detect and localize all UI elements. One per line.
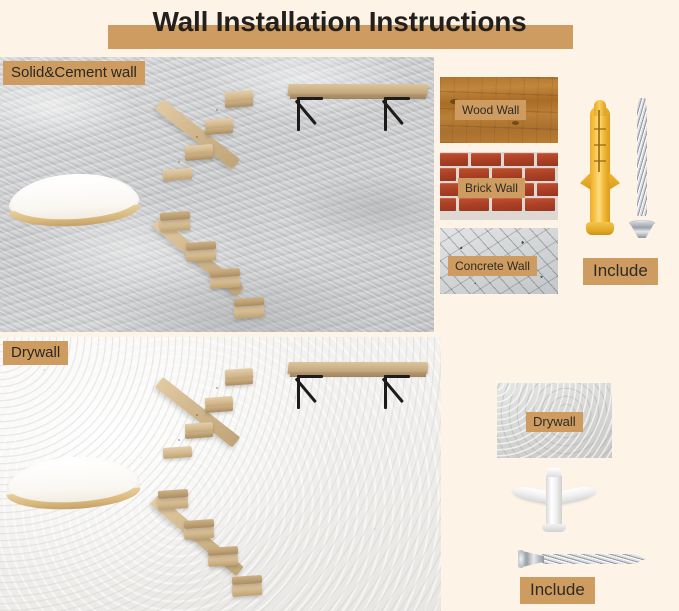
silver-screw-vertical-icon bbox=[628, 96, 656, 238]
curved-cat-hammock bbox=[7, 171, 142, 230]
swatch-label-wood-wall: Wood Wall bbox=[455, 100, 526, 120]
flat-wall-shelf bbox=[288, 84, 428, 130]
swatch-label-drywall: Drywall bbox=[526, 412, 583, 432]
shelf-bracket-left bbox=[297, 97, 323, 131]
shelf-bracket-right bbox=[384, 97, 410, 131]
swatch-label-brick-wall: Brick Wall bbox=[458, 178, 525, 198]
ladder-step bbox=[163, 446, 193, 459]
flat-wall-shelf bbox=[288, 362, 428, 408]
photo-drywall bbox=[0, 337, 441, 611]
include-label-drywall: Include bbox=[520, 577, 595, 604]
include-label-solid-cement: Include bbox=[583, 258, 658, 285]
white-winged-toggle-anchor-icon bbox=[518, 466, 590, 532]
section-label-drywall: Drywall bbox=[3, 341, 68, 365]
title-banner: Wall Installation Instructions bbox=[0, 0, 679, 56]
swatch-label-concrete-wall: Concrete Wall bbox=[448, 256, 537, 276]
page-title: Wall Installation Instructions bbox=[0, 2, 679, 42]
section-label-solid-cement: Solid&Cement wall bbox=[3, 61, 145, 85]
shelf-bracket-right bbox=[384, 375, 410, 409]
yellow-plastic-wall-anchor-icon bbox=[586, 100, 614, 235]
photo-solid-cement-wall bbox=[0, 57, 434, 332]
silver-screw-horizontal-icon bbox=[518, 549, 664, 569]
ladder-step bbox=[163, 168, 193, 181]
shelf-bracket-left bbox=[297, 375, 323, 409]
instruction-graphic: Wall Installation Instructions bbox=[0, 0, 679, 611]
curved-cat-hammock bbox=[5, 454, 142, 513]
